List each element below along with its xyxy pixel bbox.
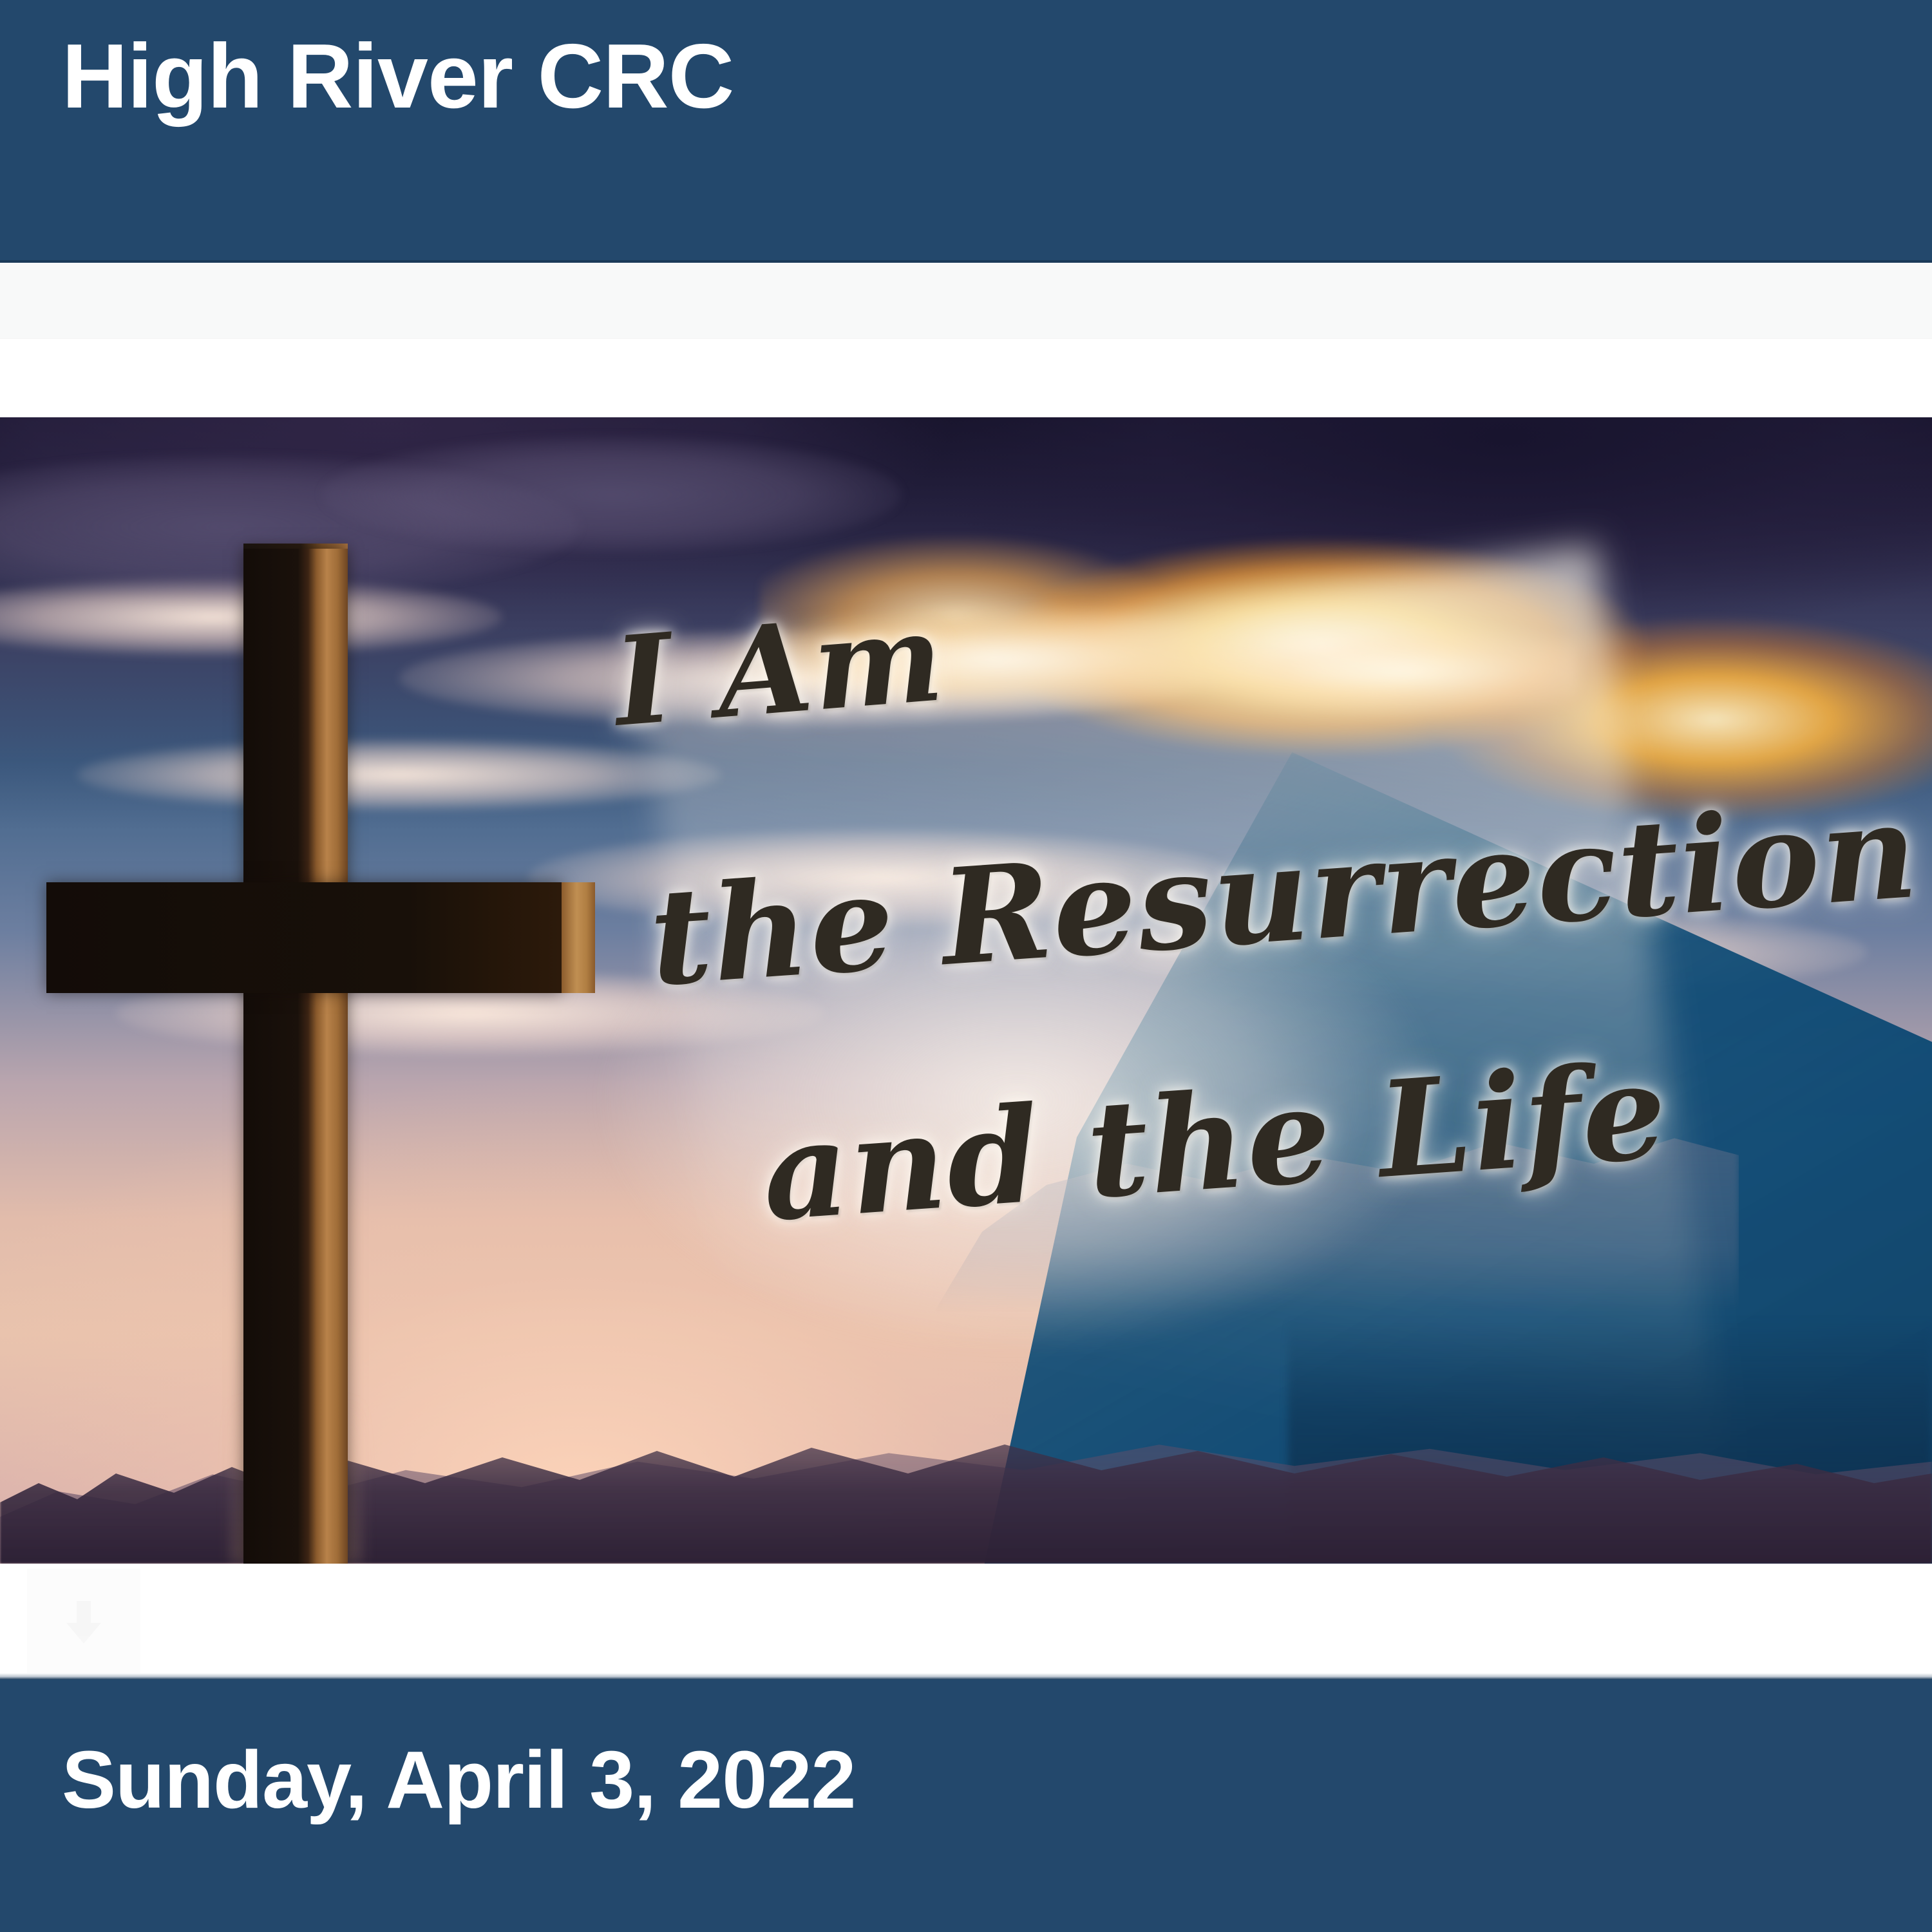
download-tile[interactable] [27,1569,140,1676]
verse-line-3: and the Life [758,1034,1672,1251]
attachment-area [0,1564,1932,1680]
page-root: High River CRC [0,0,1932,1932]
hero-image[interactable]: I Am the Resurrection and the Life LUKE … [0,417,1932,1564]
verse-overlay: I Am the Resurrection and the Life LUKE … [0,417,1932,1564]
verse-line-1: I Am [609,585,949,753]
header-bar: High River CRC [0,0,1932,260]
download-arrow-icon[interactable] [66,1601,101,1643]
footer-bar: Sunday, April 3, 2022 [0,1680,1932,1932]
content-gap [0,339,1932,417]
page-title: High River CRC [62,28,734,124]
verse-line-2: the Resurrection [645,773,1923,1016]
subhead-strip [0,263,1932,339]
service-date: Sunday, April 3, 2022 [62,1738,855,1823]
footer-divider [0,1673,1932,1680]
